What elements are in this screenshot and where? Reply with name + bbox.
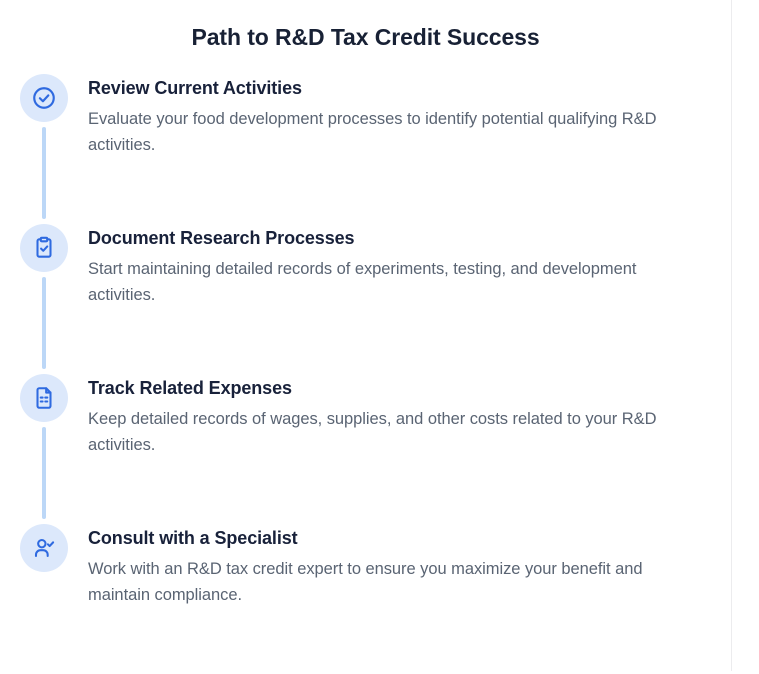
step-marker — [20, 224, 68, 272]
step-marker — [20, 374, 68, 422]
step-marker — [20, 74, 68, 122]
step-description: Work with an R&D tax credit expert to en… — [88, 556, 708, 608]
step-icon-badge — [20, 524, 68, 572]
page-title: Path to R&D Tax Credit Success — [0, 0, 731, 52]
timeline-step: Track Related Expenses Keep detailed rec… — [0, 374, 731, 524]
timeline-step: Document Research Processes Start mainta… — [0, 224, 731, 374]
content-boundary-rule — [731, 0, 732, 671]
step-title: Consult with a Specialist — [88, 526, 708, 550]
step-body: Consult with a Specialist Work with an R… — [68, 524, 708, 608]
timeline-step: Consult with a Specialist Work with an R… — [0, 524, 731, 674]
step-connector-line — [42, 277, 46, 369]
page-root: Path to R&D Tax Credit Success — [0, 0, 759, 671]
step-connector-line — [42, 127, 46, 219]
clipboard-check-icon — [31, 235, 57, 261]
step-icon-badge — [20, 74, 68, 122]
step-body: Review Current Activities Evaluate your … — [68, 74, 708, 158]
step-connector-line — [42, 427, 46, 519]
step-title: Review Current Activities — [88, 76, 708, 100]
check-circle-icon — [31, 85, 57, 111]
step-icon-badge — [20, 374, 68, 422]
user-check-icon — [31, 535, 57, 561]
step-title: Document Research Processes — [88, 226, 708, 250]
step-body: Track Related Expenses Keep detailed rec… — [68, 374, 708, 458]
document-lines-icon — [31, 385, 57, 411]
step-description: Start maintaining detailed records of ex… — [88, 256, 708, 308]
step-description: Keep detailed records of wages, supplies… — [88, 406, 708, 458]
step-title: Track Related Expenses — [88, 376, 708, 400]
step-marker — [20, 524, 68, 572]
step-description: Evaluate your food development processes… — [88, 106, 708, 158]
timeline-panel: Path to R&D Tax Credit Success — [0, 0, 731, 671]
steps-timeline: Review Current Activities Evaluate your … — [0, 74, 731, 674]
step-icon-badge — [20, 224, 68, 272]
step-body: Document Research Processes Start mainta… — [68, 224, 708, 308]
timeline-step: Review Current Activities Evaluate your … — [0, 74, 731, 224]
